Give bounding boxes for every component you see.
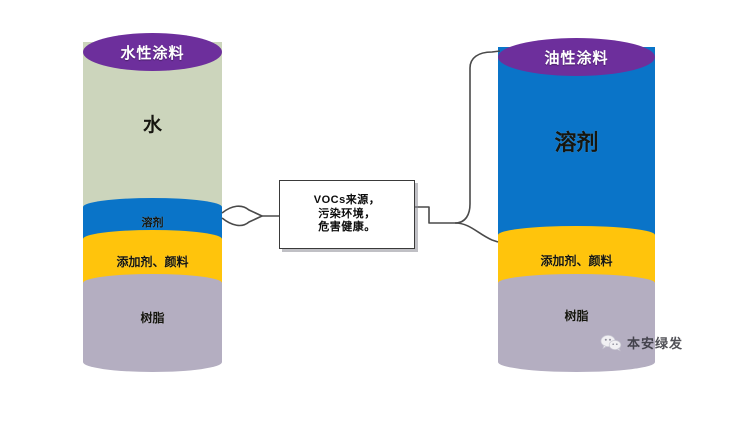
cylinder-body-waterborne xyxy=(83,42,222,362)
cylinder-waterborne: 水 溶剂 添加剂、颜料 树脂 xyxy=(83,42,222,362)
wechat-icon xyxy=(600,334,622,352)
connector-right-top xyxy=(455,51,500,223)
watermark-text: 本安绿发 xyxy=(627,333,683,352)
layer-resin-left xyxy=(83,283,222,362)
cylinder-cap-label-waterborne: 水性涂料 xyxy=(120,42,184,63)
cylinder-cap-label-solventborne: 油性涂料 xyxy=(544,47,608,68)
cylinder-solventborne: 溶剂 添加剂、颜料 树脂 xyxy=(498,47,655,362)
cylinder-cap-waterborne: 水性涂料 xyxy=(83,33,222,71)
callout-line-2: 污染环境， xyxy=(318,208,376,222)
callout-line-1: VOCs来源， xyxy=(314,194,380,208)
diagram-canvas: 水 溶剂 添加剂、颜料 树脂 水性涂料 溶剂 添加剂 xyxy=(0,0,751,430)
callout-box: VOCs来源， 污染环境， 危害健康。 xyxy=(279,180,415,249)
cylinder-cap-solventborne: 油性涂料 xyxy=(498,38,655,76)
callout-line-3: 危害健康。 xyxy=(318,221,376,235)
watermark: 本安绿发 xyxy=(600,333,683,352)
connector-right-bracket xyxy=(413,207,498,242)
cylinder-body-solventborne xyxy=(498,47,655,362)
connector-left xyxy=(222,206,262,225)
